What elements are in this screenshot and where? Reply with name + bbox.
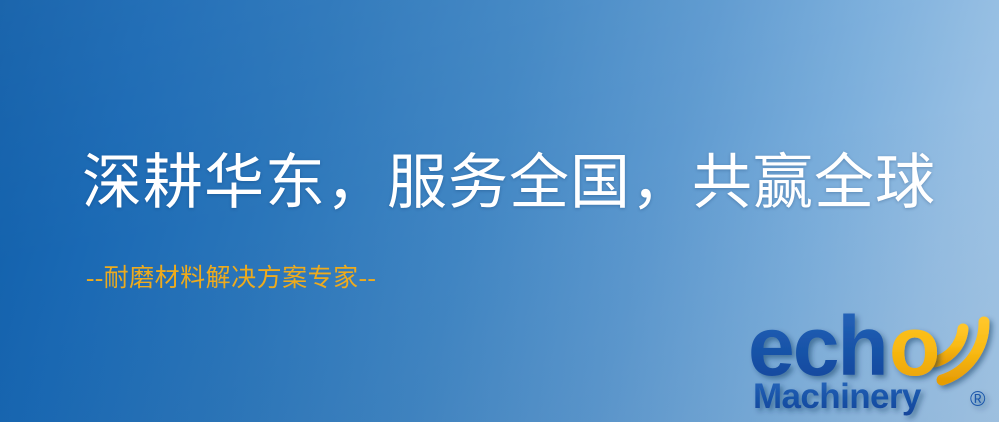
page-subtitle: --耐磨材料解决方案专家-- [86,266,376,291]
echo-wave-icon [934,322,984,380]
brand-logo[interactable]: ech o Machinery ® [748,296,999,422]
page-title: 深耕华东，服务全国，共赢全球 [82,153,936,213]
registered-trademark-icon: ® [970,388,986,411]
hero-banner: 深耕华东，服务全国，共赢全球 --耐磨材料解决方案专家-- [0,0,999,422]
logo-tagline: Machinery [753,377,922,416]
